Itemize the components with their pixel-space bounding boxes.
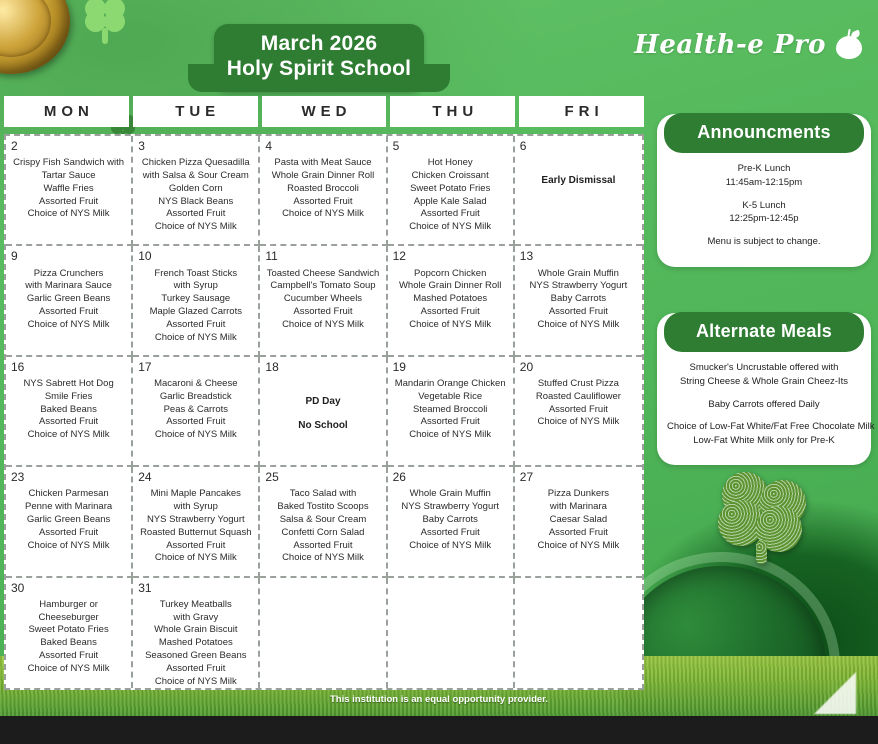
menu-item-list: Hot HoneyChicken CroissantSweet Potato F… <box>393 157 508 234</box>
menu-item: Choice of NYS Milk <box>520 319 637 332</box>
menu-item: Choice of NYS Milk <box>265 208 380 221</box>
menu-item: with Marinara Sauce <box>11 280 126 293</box>
menu-item: Assorted Fruit <box>393 306 508 319</box>
menu-item-list: Crispy Fish Sandwich withTartar SauceWaf… <box>11 157 126 221</box>
day-note: Early Dismissal <box>520 169 637 193</box>
menu-item: Garlic Green Beans <box>11 514 126 527</box>
menu-item: Choice of NYS Milk <box>11 663 126 676</box>
menu-item-list: Whole Grain MuffinNYS Strawberry YogurtB… <box>520 268 637 332</box>
day-number: 23 <box>11 471 126 484</box>
menu-item: Turkey Meatballs <box>138 599 253 612</box>
alternate-meal-line: Low-Fat White Milk only for Pre-K <box>667 434 861 448</box>
day-number: 30 <box>11 582 126 595</box>
menu-item: Choice of NYS Milk <box>393 429 508 442</box>
menu-item: NYS Strawberry Yogurt <box>393 501 508 514</box>
day-number: 16 <box>11 361 126 374</box>
alternate-meal-group: Smucker's Uncrustable offered withString… <box>667 361 861 389</box>
calendar-day-cell-10: 10French Toast Stickswith SyrupTurkey Sa… <box>133 246 260 356</box>
menu-item-list: Turkey Meatballswith GravyWhole Grain Bi… <box>138 599 253 688</box>
bottom-letterbox-bar <box>0 716 878 744</box>
announcements-heading: Announcments <box>664 113 864 153</box>
menu-item: Assorted Fruit <box>393 527 508 540</box>
brand-logo: Health-e Pro <box>634 30 862 60</box>
announcement-group: Pre-K Lunch11:45am-12:15pm <box>667 162 861 190</box>
day-number: 25 <box>265 471 380 484</box>
menu-item: Steamed Broccoli <box>393 404 508 417</box>
day-number: 4 <box>265 140 380 153</box>
calendar-day-cell-16: 16NYS Sabrett Hot DogSmile FriesBaked Be… <box>6 357 133 467</box>
menu-item: with Gravy <box>138 612 253 625</box>
menu-item: Mandarin Orange Chicken <box>393 378 508 391</box>
menu-item: Pasta with Meat Sauce <box>265 157 380 170</box>
menu-item: with Salsa & Sour Cream <box>138 170 253 183</box>
menu-item: Taco Salad with <box>265 488 380 501</box>
menu-item: Choice of NYS Milk <box>138 332 253 345</box>
menu-item: Choice of NYS Milk <box>138 552 253 565</box>
menu-item: Pizza Crunchers <box>11 268 126 281</box>
menu-item: Peas & Carrots <box>138 404 253 417</box>
menu-item: Garlic Green Beans <box>11 293 126 306</box>
calendar-day-cell-empty <box>260 578 387 688</box>
announcement-line: K-5 Lunch <box>667 199 861 213</box>
day-number: 18 <box>265 361 380 374</box>
menu-item: Popcorn Chicken <box>393 268 508 281</box>
calendar-day-cell-12: 12Popcorn ChickenWhole Grain Dinner Roll… <box>388 246 515 356</box>
alternate-meal-line: String Cheese & Whole Grain Cheez-Its <box>667 375 861 389</box>
menu-item: Assorted Fruit <box>520 306 637 319</box>
menu-item: Choice of NYS Milk <box>265 319 380 332</box>
menu-item: Macaroni & Cheese <box>138 378 253 391</box>
announcements-body: Pre-K Lunch11:45am-12:15pmK-5 Lunch12:25… <box>657 153 871 249</box>
menu-item: Smile Fries <box>11 391 126 404</box>
menu-item: Choice of NYS Milk <box>393 540 508 553</box>
announcement-line: 12:25pm-12:45p <box>667 212 861 226</box>
menu-item: French Toast Sticks <box>138 268 253 281</box>
alternate-meals-heading: Alternate Meals <box>664 312 864 352</box>
menu-item-list: Chicken ParmesanPenne with MarinaraGarli… <box>11 488 126 552</box>
menu-item-list: Hamburger orCheeseburgerSweet Potato Fri… <box>11 599 126 676</box>
menu-item-list: Toasted Cheese SandwichCampbell's Tomato… <box>265 268 380 332</box>
menu-item: Mashed Potatoes <box>138 637 253 650</box>
menu-item: Choice of NYS Milk <box>138 676 253 688</box>
calendar-day-cell-13: 13Whole Grain MuffinNYS Strawberry Yogur… <box>515 246 642 356</box>
calendar-day-cell-31: 31Turkey Meatballswith GravyWhole Grain … <box>133 578 260 688</box>
menu-item: Confetti Corn Salad <box>265 527 380 540</box>
menu-item: Vegetable Rice <box>393 391 508 404</box>
day-number: 27 <box>520 471 637 484</box>
menu-item-list: Stuffed Crust PizzaRoasted CauliflowerAs… <box>520 378 637 429</box>
day-number: 10 <box>138 250 253 263</box>
menu-item: Whole Grain Dinner Roll <box>265 170 380 183</box>
menu-item: Caesar Salad <box>520 514 637 527</box>
menu-item: with Marinara <box>520 501 637 514</box>
calendar-day-cell-18: 18PD DayNo School <box>260 357 387 467</box>
calendar-day-cell-2: 2Crispy Fish Sandwich withTartar SauceWa… <box>6 136 133 246</box>
menu-item: NYS Sabrett Hot Dog <box>11 378 126 391</box>
page-corner-fold-decoration <box>814 672 856 714</box>
menu-item: Garlic Breadstick <box>138 391 253 404</box>
menu-item: Campbell's Tomato Soup <box>265 280 380 293</box>
announcement-group: K-5 Lunch12:25pm-12:45p <box>667 199 861 227</box>
menu-item: Assorted Fruit <box>11 416 126 429</box>
day-note: PD DayNo School <box>265 390 380 438</box>
menu-item: Golden Corn <box>138 183 253 196</box>
menu-item: Baked Beans <box>11 404 126 417</box>
calendar-day-cell-9: 9Pizza Cruncherswith Marinara SauceGarli… <box>6 246 133 356</box>
menu-item: Assorted Fruit <box>520 404 637 417</box>
calendar-day-cell-27: 27Pizza Dunkerswith MarinaraCaesar Salad… <box>515 467 642 577</box>
clover-decoration <box>82 0 128 40</box>
menu-item: Mashed Potatoes <box>393 293 508 306</box>
menu-item: Assorted Fruit <box>393 208 508 221</box>
menu-item-list: Pizza Dunkerswith MarinaraCaesar SaladAs… <box>520 488 637 552</box>
calendar-day-cell-26: 26Whole Grain MuffinNYS Strawberry Yogur… <box>388 467 515 577</box>
menu-item: Choice of NYS Milk <box>138 221 253 234</box>
menu-item-list: NYS Sabrett Hot DogSmile FriesBaked Bean… <box>11 378 126 442</box>
weekday-tue: TUE <box>133 96 258 127</box>
menu-item: Hamburger or <box>11 599 126 612</box>
menu-item: Toasted Cheese Sandwich <box>265 268 380 281</box>
calendar-day-cell-17: 17Macaroni & CheeseGarlic BreadstickPeas… <box>133 357 260 467</box>
alternate-meal-line: Baby Carrots offered Daily <box>667 398 861 412</box>
apple-icon <box>836 31 862 59</box>
menu-item: Salsa & Sour Cream <box>265 514 380 527</box>
menu-item: Stuffed Crust Pizza <box>520 378 637 391</box>
weekday-header-row: MON TUE WED THU FRI <box>4 96 644 127</box>
menu-item: Crispy Fish Sandwich with <box>11 157 126 170</box>
menu-item: Tartar Sauce <box>11 170 126 183</box>
menu-item: Assorted Fruit <box>11 650 126 663</box>
day-number: 6 <box>520 140 637 153</box>
menu-item: Choice of NYS Milk <box>265 552 380 565</box>
alternate-meals-body: Smucker's Uncrustable offered withString… <box>657 352 871 448</box>
menu-item: NYS Strawberry Yogurt <box>520 280 637 293</box>
menu-item: Assorted Fruit <box>11 306 126 319</box>
menu-item: Hot Honey <box>393 157 508 170</box>
calendar-day-cell-25: 25Taco Salad withBaked Tostito ScoopsSal… <box>260 467 387 577</box>
day-number: 17 <box>138 361 253 374</box>
menu-item: Mini Maple Pancakes <box>138 488 253 501</box>
calendar-day-cell-30: 30Hamburger orCheeseburgerSweet Potato F… <box>6 578 133 688</box>
menu-item: Assorted Fruit <box>265 540 380 553</box>
menu-item: Choice of NYS Milk <box>393 221 508 234</box>
menu-item: Choice of NYS Milk <box>11 429 126 442</box>
menu-item: Sweet Potato Fries <box>11 624 126 637</box>
day-note-line: PD Day <box>265 390 380 414</box>
menu-item-list: Pizza Cruncherswith Marinara SauceGarlic… <box>11 268 126 332</box>
menu-item: Pizza Dunkers <box>520 488 637 501</box>
menu-item: Whole Grain Muffin <box>520 268 637 281</box>
menu-item: Whole Grain Dinner Roll <box>393 280 508 293</box>
menu-item-list: Popcorn ChickenWhole Grain Dinner RollMa… <box>393 268 508 332</box>
menu-item-list: Chicken Pizza Quesadillawith Salsa & Sou… <box>138 157 253 234</box>
menu-item: Choice of NYS Milk <box>11 319 126 332</box>
menu-item: Choice of NYS Milk <box>393 319 508 332</box>
day-number: 31 <box>138 582 253 595</box>
menu-item: Roasted Broccoli <box>265 183 380 196</box>
calendar-day-cell-5: 5Hot HoneyChicken CroissantSweet Potato … <box>388 136 515 246</box>
gold-medallion-decoration <box>0 0 70 74</box>
menu-item: Assorted Fruit <box>138 208 253 221</box>
calendar-day-cell-11: 11Toasted Cheese SandwichCampbell's Toma… <box>260 246 387 356</box>
day-number: 11 <box>265 250 380 263</box>
weekday-fri: FRI <box>519 96 644 127</box>
calendar-day-cell-20: 20Stuffed Crust PizzaRoasted Cauliflower… <box>515 357 642 467</box>
weekday-wed: WED <box>262 96 387 127</box>
menu-item: Assorted Fruit <box>11 196 126 209</box>
menu-item: Apple Kale Salad <box>393 196 508 209</box>
announcements-panel: Announcments Pre-K Lunch11:45am-12:15pmK… <box>657 114 871 267</box>
day-number: 5 <box>393 140 508 153</box>
menu-item: Whole Grain Muffin <box>393 488 508 501</box>
school-name: Holy Spirit School <box>224 57 414 82</box>
calendar-day-cell-23: 23Chicken ParmesanPenne with MarinaraGar… <box>6 467 133 577</box>
shamrock-glitter-decoration <box>716 470 810 562</box>
menu-item: Baked Tostito Scoops <box>265 501 380 514</box>
menu-item: Assorted Fruit <box>138 663 253 676</box>
alternate-meal-line: Choice of Low-Fat White/Fat Free Chocola… <box>667 420 861 434</box>
weekday-thu: THU <box>390 96 515 127</box>
menu-item: Assorted Fruit <box>520 527 637 540</box>
menu-item: Chicken Parmesan <box>11 488 126 501</box>
menu-item: Baby Carrots <box>520 293 637 306</box>
day-number: 12 <box>393 250 508 263</box>
day-number: 2 <box>11 140 126 153</box>
day-note-line: Early Dismissal <box>520 169 637 193</box>
day-number: 9 <box>11 250 126 263</box>
menu-item: with Syrup <box>138 280 253 293</box>
menu-item: Cheeseburger <box>11 612 126 625</box>
menu-item-list: Pasta with Meat SauceWhole Grain Dinner … <box>265 157 380 221</box>
menu-item: Assorted Fruit <box>138 319 253 332</box>
menu-item-list: Mandarin Orange ChickenVegetable RiceSte… <box>393 378 508 442</box>
menu-item: Maple Glazed Carrots <box>138 306 253 319</box>
menu-item: Roasted Butternut Squash <box>138 527 253 540</box>
menu-item: Choice of NYS Milk <box>11 540 126 553</box>
calendar-day-cell-6: 6Early Dismissal <box>515 136 642 246</box>
menu-item-list: Mini Maple Pancakeswith SyrupNYS Strawbe… <box>138 488 253 565</box>
calendar-day-cell-24: 24Mini Maple Pancakeswith SyrupNYS Straw… <box>133 467 260 577</box>
page-title: March 2026 Holy Spirit School <box>214 24 424 92</box>
calendar-day-cell-4: 4Pasta with Meat SauceWhole Grain Dinner… <box>260 136 387 246</box>
menu-item: Baby Carrots <box>393 514 508 527</box>
menu-item-list: Macaroni & CheeseGarlic BreadstickPeas &… <box>138 378 253 442</box>
day-number: 24 <box>138 471 253 484</box>
day-note-line: No School <box>265 414 380 438</box>
menu-item: Waffle Fries <box>11 183 126 196</box>
day-number: 20 <box>520 361 637 374</box>
day-number: 19 <box>393 361 508 374</box>
menu-item: Roasted Cauliflower <box>520 391 637 404</box>
alternate-meals-panel: Alternate Meals Smucker's Uncrustable of… <box>657 313 871 465</box>
day-number: 26 <box>393 471 508 484</box>
menu-item: Sweet Potato Fries <box>393 183 508 196</box>
menu-item: Choice of NYS Milk <box>11 208 126 221</box>
calendar-day-cell-empty <box>388 578 515 688</box>
menu-item: Chicken Pizza Quesadilla <box>138 157 253 170</box>
menu-item: Whole Grain Biscuit <box>138 624 253 637</box>
menu-item: Assorted Fruit <box>265 306 380 319</box>
menu-item: Cucumber Wheels <box>265 293 380 306</box>
announcement-line: Pre-K Lunch <box>667 162 861 176</box>
menu-item-list: Taco Salad withBaked Tostito ScoopsSalsa… <box>265 488 380 565</box>
menu-item: Assorted Fruit <box>138 416 253 429</box>
menu-item: Choice of NYS Milk <box>520 540 637 553</box>
menu-item: NYS Strawberry Yogurt <box>138 514 253 527</box>
menu-item: NYS Black Beans <box>138 196 253 209</box>
menu-item: Assorted Fruit <box>11 527 126 540</box>
calendar-grid: 2Crispy Fish Sandwich withTartar SauceWa… <box>4 134 644 690</box>
alternate-meal-group: Choice of Low-Fat White/Fat Free Chocola… <box>667 420 861 448</box>
announcement-group: Menu is subject to change. <box>667 235 861 249</box>
menu-item: Choice of NYS Milk <box>138 429 253 442</box>
menu-item: Baked Beans <box>11 637 126 650</box>
alternate-meal-group: Baby Carrots offered Daily <box>667 398 861 412</box>
menu-item: Assorted Fruit <box>393 416 508 429</box>
day-number: 13 <box>520 250 637 263</box>
menu-item: Chicken Croissant <box>393 170 508 183</box>
menu-item: Assorted Fruit <box>138 540 253 553</box>
menu-item: Turkey Sausage <box>138 293 253 306</box>
alternate-meal-line: Smucker's Uncrustable offered with <box>667 361 861 375</box>
announcement-line: 11:45am-12:15pm <box>667 176 861 190</box>
day-number: 3 <box>138 140 253 153</box>
menu-item-list: Whole Grain MuffinNYS Strawberry YogurtB… <box>393 488 508 552</box>
calendar-day-cell-19: 19Mandarin Orange ChickenVegetable RiceS… <box>388 357 515 467</box>
menu-item: Choice of NYS Milk <box>520 416 637 429</box>
menu-item: Assorted Fruit <box>265 196 380 209</box>
menu-item: Seasoned Green Beans <box>138 650 253 663</box>
menu-item-list: French Toast Stickswith SyrupTurkey Saus… <box>138 268 253 345</box>
calendar-day-cell-3: 3Chicken Pizza Quesadillawith Salsa & So… <box>133 136 260 246</box>
calendar-day-cell-empty <box>515 578 642 688</box>
weekday-mon: MON <box>4 96 129 127</box>
equal-opportunity-note: This institution is an equal opportunity… <box>0 694 878 705</box>
brand-name: Health-e Pro <box>634 30 826 60</box>
menu-item: with Syrup <box>138 501 253 514</box>
menu-item: Penne with Marinara <box>11 501 126 514</box>
calendar-month-year: March 2026 <box>224 32 414 57</box>
announcement-line: Menu is subject to change. <box>667 235 861 249</box>
